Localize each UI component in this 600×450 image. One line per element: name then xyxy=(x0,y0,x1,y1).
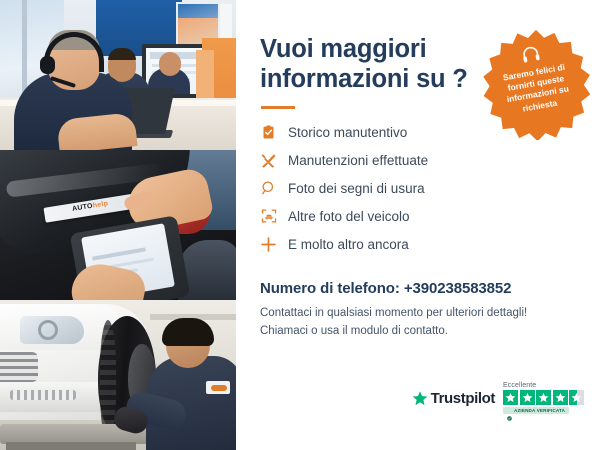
info-request-banner: AUTOhelp xyxy=(0,0,600,450)
page-title: Vuoi maggiori informazioni su ? xyxy=(260,34,475,94)
tools-cross-icon xyxy=(260,152,277,169)
star-icon xyxy=(553,390,568,405)
contact-text: Contattaci in qualsiasi momento per ulte… xyxy=(260,305,576,341)
feature-label: Foto dei segni di usura xyxy=(288,181,425,196)
verified-label: AZIENDA VERIFICATA xyxy=(514,408,565,413)
clipboard-check-icon xyxy=(260,124,277,141)
callout-badge: Saremo felici di fornirti queste informa… xyxy=(480,28,592,140)
list-item: Foto dei segni di usura xyxy=(260,175,576,201)
star-rating xyxy=(503,390,584,405)
list-item: Manutenzioni effettuate xyxy=(260,147,576,173)
feature-label: Manutenzioni effettuate xyxy=(288,153,428,168)
list-item: E molto altro ancora xyxy=(260,231,576,257)
trustpilot-widget[interactable]: Trustpilot Eccellente xyxy=(412,382,584,414)
check-circle-icon xyxy=(507,408,512,413)
trustpilot-rating: Eccellente AZIENDA VERIFICATA xyxy=(503,382,584,414)
mechanic-wheel-photo xyxy=(0,300,236,450)
star-icon xyxy=(503,390,518,405)
feature-label: Altre foto del veicolo xyxy=(288,209,410,224)
star-icon xyxy=(520,390,535,405)
star-half-icon xyxy=(569,390,584,405)
title-divider xyxy=(261,106,295,109)
contact-line-1: Contattaci in qualsiasi momento per ulte… xyxy=(260,305,576,323)
list-item: Altre foto del veicolo xyxy=(260,203,576,229)
star-icon xyxy=(536,390,551,405)
badge-text: Saremo felici di fornirti queste informa… xyxy=(488,59,586,119)
rating-label: Eccellente xyxy=(503,382,536,389)
feature-label: Storico manutentivo xyxy=(288,125,407,140)
feature-label: E molto altro ancora xyxy=(288,237,409,252)
photo-frame-car-icon xyxy=(260,208,277,225)
trustpilot-star-icon xyxy=(412,390,428,406)
car-inspection-photo: AUTOhelp xyxy=(0,150,236,300)
contact-line-2: Chiamaci o usa il modulo di contatto. xyxy=(260,323,576,341)
call-center-photo xyxy=(0,0,236,150)
content-panel: Vuoi maggiori informazioni su ? Storico … xyxy=(236,0,600,450)
phone-number[interactable]: Numero di telefono: +390238583852 xyxy=(260,280,576,297)
verified-badge: AZIENDA VERIFICATA xyxy=(503,407,569,414)
magnifier-icon xyxy=(260,180,277,197)
trustpilot-wordmark: Trustpilot xyxy=(431,390,495,407)
trustpilot-logo: Trustpilot xyxy=(412,390,495,407)
plus-icon xyxy=(260,236,277,253)
headset-icon xyxy=(519,43,542,66)
photo-column: AUTOhelp xyxy=(0,0,236,450)
